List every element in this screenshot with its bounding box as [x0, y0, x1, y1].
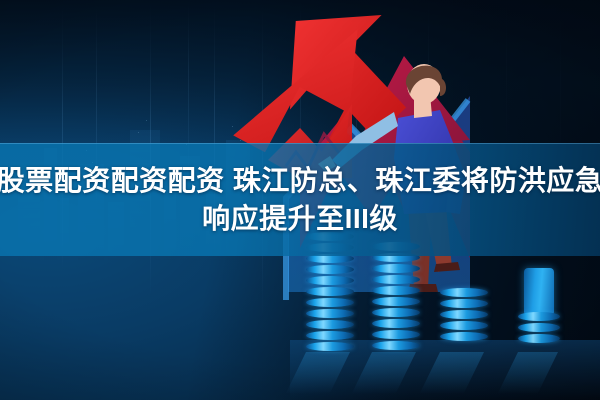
headline-line-2: 响应提升至III级 — [202, 202, 398, 236]
headline-text-block: 股票配资配资配资 珠江防总、珠江委将防洪应急 响应提升至III级 — [0, 143, 600, 256]
headline-line-1: 股票配资配资配资 珠江防总、珠江委将防洪应急 — [0, 164, 600, 198]
news-banner-image: 股票配资配资配资 珠江防总、珠江委将防洪应急 响应提升至III级 — [0, 0, 600, 400]
